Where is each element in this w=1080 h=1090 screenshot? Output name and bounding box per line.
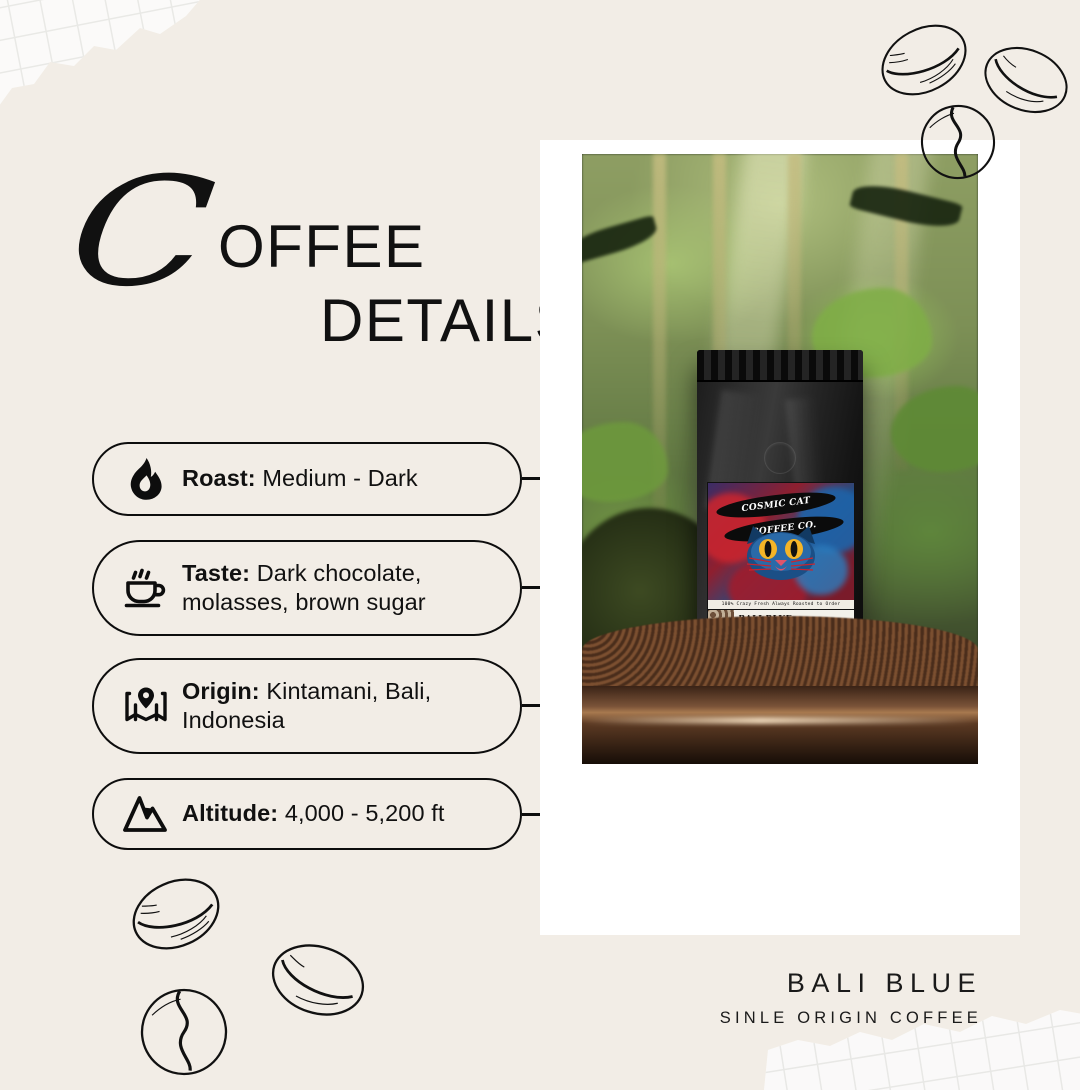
detail-text-taste: Taste: Dark chocolate, molasses, brown s… [182,559,502,617]
wooden-table [582,686,978,764]
product-photo: COSMIC CAT COFFEE CO. [582,154,978,764]
flame-icon [120,453,172,505]
detail-pill-taste[interactable]: Taste: Dark chocolate, molasses, brown s… [92,540,522,636]
table-highlight [582,717,978,724]
detail-label-altitude: Altitude: [182,800,278,826]
caption-title: BALI BLUE [720,968,982,999]
headline-script-letter: C [62,158,221,308]
coffee-bean-mound [582,616,978,692]
bottom-left-beans [112,862,442,1087]
detail-label-origin: Origin: [182,678,260,704]
headline-word-details: DETAILS [320,286,576,355]
detail-text-roast: Roast: Medium - Dark [182,464,418,493]
poster-canvas: C OFFEE DETAILS Roast: Medium - Dark [0,0,1080,1080]
bag-art-label: COSMIC CAT COFFEE CO. [707,482,855,602]
mountain-icon [120,788,172,840]
detail-pill-altitude[interactable]: Altitude: 4,000 - 5,200 ft [92,778,522,850]
fresh-strip-text: 100% Crazy Fresh Always Roasted to Order [722,602,841,607]
bag-embossed-seal [764,442,796,474]
detail-text-origin: Origin: Kintamani, Bali, Indonesia [182,677,502,735]
detail-label-roast: Roast: [182,465,256,491]
detail-value-roast: Medium - Dark [262,465,417,491]
detail-pill-origin[interactable]: Origin: Kintamani, Bali, Indonesia [92,658,522,754]
top-right-beans [862,12,1080,187]
coffee-cup-icon [120,562,172,614]
detail-text-altitude: Altitude: 4,000 - 5,200 ft [182,799,445,828]
cosmic-cat-illustration [735,522,827,585]
map-pin-icon [120,680,172,732]
headline-word-coffee: OFFEE [218,212,426,281]
detail-label-taste: Taste: [182,560,250,586]
product-card: COSMIC CAT COFFEE CO. [540,140,1020,935]
product-caption: BALI BLUE SINLE ORIGIN COFFEE [720,968,982,1028]
detail-pill-roast[interactable]: Roast: Medium - Dark [92,442,522,516]
bag-fresh-strip: 100% Crazy Fresh Always Roasted to Order [707,600,855,609]
detail-value-altitude: 4,000 - 5,200 ft [285,800,445,826]
caption-subtitle: SINLE ORIGIN COFFEE [720,1009,982,1028]
bag-top-seal [697,350,863,382]
